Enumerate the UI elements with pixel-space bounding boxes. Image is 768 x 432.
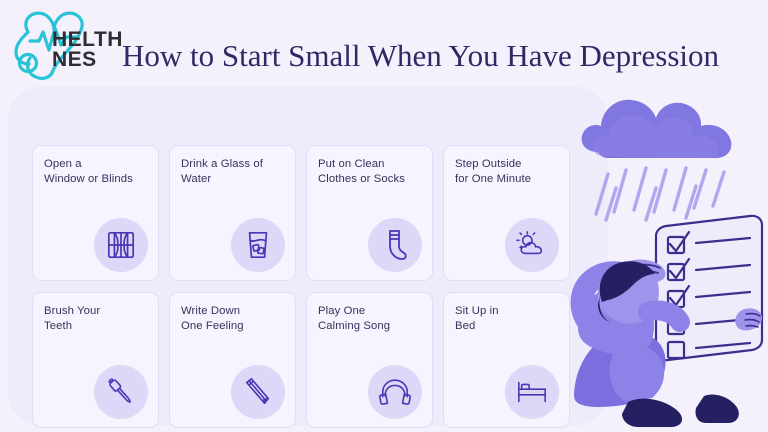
card-title: Put on Clean Clothes or Socks — [318, 157, 428, 186]
sock-icon — [368, 218, 422, 272]
toothbrush-icon — [94, 365, 148, 419]
card-clean-clothes[interactable]: Put on Clean Clothes or Socks — [306, 145, 433, 281]
rain-streaks — [596, 168, 724, 220]
card-write-feeling[interactable]: Write Down One Feeling — [169, 292, 296, 428]
pencil-icon — [231, 365, 285, 419]
card-calming-song[interactable]: Play One Calming Song — [306, 292, 433, 428]
rain-cloud — [582, 100, 732, 158]
card-step-outside[interactable]: Step Outside for One Minute — [443, 145, 570, 281]
card-title: Play One Calming Song — [318, 304, 428, 333]
page-title: How to Start Small When You Have Depress… — [122, 39, 719, 73]
sun-cloud-icon — [505, 218, 559, 272]
card-title: Open a Window or Blinds — [44, 157, 154, 186]
window-blinds-icon — [94, 218, 148, 272]
card-title: Drink a Glass of Water — [181, 157, 291, 186]
checklist-paper — [656, 216, 762, 360]
card-open-window[interactable]: Open a Window or Blinds — [32, 145, 159, 281]
card-title: Step Outside for One Minute — [455, 157, 565, 186]
headphones-icon — [368, 365, 422, 419]
header: HELTH NES How to Start Small When You Ha… — [0, 0, 768, 86]
water-glass-icon — [231, 218, 285, 272]
brand-logo: HELTH NES — [6, 4, 128, 82]
card-brush-teeth[interactable]: Brush Your Teeth — [32, 292, 159, 428]
logo-text-line2: NES — [52, 50, 123, 70]
card-title: Write Down One Feeling — [181, 304, 291, 333]
card-sit-up-bed[interactable]: Sit Up in Bed — [443, 292, 570, 428]
person-with-checklist-illustration — [556, 96, 768, 432]
bed-icon — [505, 365, 559, 419]
card-title: Brush Your Teeth — [44, 304, 154, 333]
logo-text-line1: HELTH — [52, 30, 123, 50]
card-drink-water[interactable]: Drink a Glass of Water — [169, 145, 296, 281]
card-title: Sit Up in Bed — [455, 304, 565, 333]
